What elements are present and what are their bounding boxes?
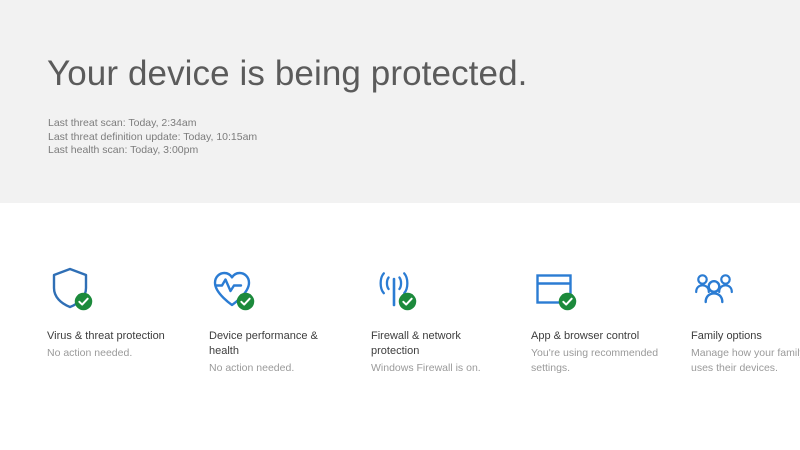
tile-title: App & browser control: [531, 329, 663, 344]
check-badge-icon: [74, 292, 93, 311]
last-health-scan-line: Last health scan: Today, 3:00pm: [48, 144, 468, 158]
tile-title: Firewall & network protection: [371, 329, 503, 359]
check-badge-icon: [398, 292, 417, 311]
last-threat-scan-line: Last threat scan: Today, 2:34am: [48, 117, 468, 131]
tile-firewall-network-protection[interactable]: Firewall & network protection Windows Fi…: [371, 265, 521, 376]
tile-icon-wrap: [371, 265, 417, 311]
tile-subtitle: No action needed.: [209, 361, 341, 376]
page-title: Your device is being protected.: [47, 53, 527, 95]
last-threat-definition-update-line: Last threat definition update: Today, 10…: [48, 131, 468, 145]
tile-virus-threat-protection[interactable]: Virus & threat protection No action need…: [47, 265, 197, 361]
tile-icon-wrap: [531, 265, 577, 311]
check-badge-icon: [236, 292, 255, 311]
check-badge-icon: [558, 292, 577, 311]
tile-subtitle: Windows Firewall is on.: [371, 361, 503, 376]
tile-subtitle: No action needed.: [47, 346, 179, 361]
tile-family-options[interactable]: Family options Manage how your family us…: [691, 265, 800, 376]
tile-icon-wrap: [691, 265, 737, 311]
family-people-icon: [691, 265, 737, 311]
tile-app-browser-control[interactable]: App & browser control You're using recom…: [531, 265, 681, 376]
tile-title: Device performance & health: [209, 329, 341, 359]
tile-icon-wrap: [47, 265, 93, 311]
tile-device-performance-health[interactable]: Device performance & health No action ne…: [209, 265, 359, 376]
tile-title: Virus & threat protection: [47, 329, 179, 344]
protection-areas-row: Virus & threat protection No action need…: [0, 203, 800, 450]
tile-subtitle: You're using recommended settings.: [531, 346, 663, 376]
tile-subtitle: Manage how your family uses their device…: [691, 346, 800, 376]
status-hero-band: Your device is being protected. Last thr…: [0, 0, 800, 203]
tile-icon-wrap: [209, 265, 255, 311]
scan-status-list: Last threat scan: Today, 2:34am Last thr…: [48, 117, 468, 158]
tile-title: Family options: [691, 329, 800, 344]
